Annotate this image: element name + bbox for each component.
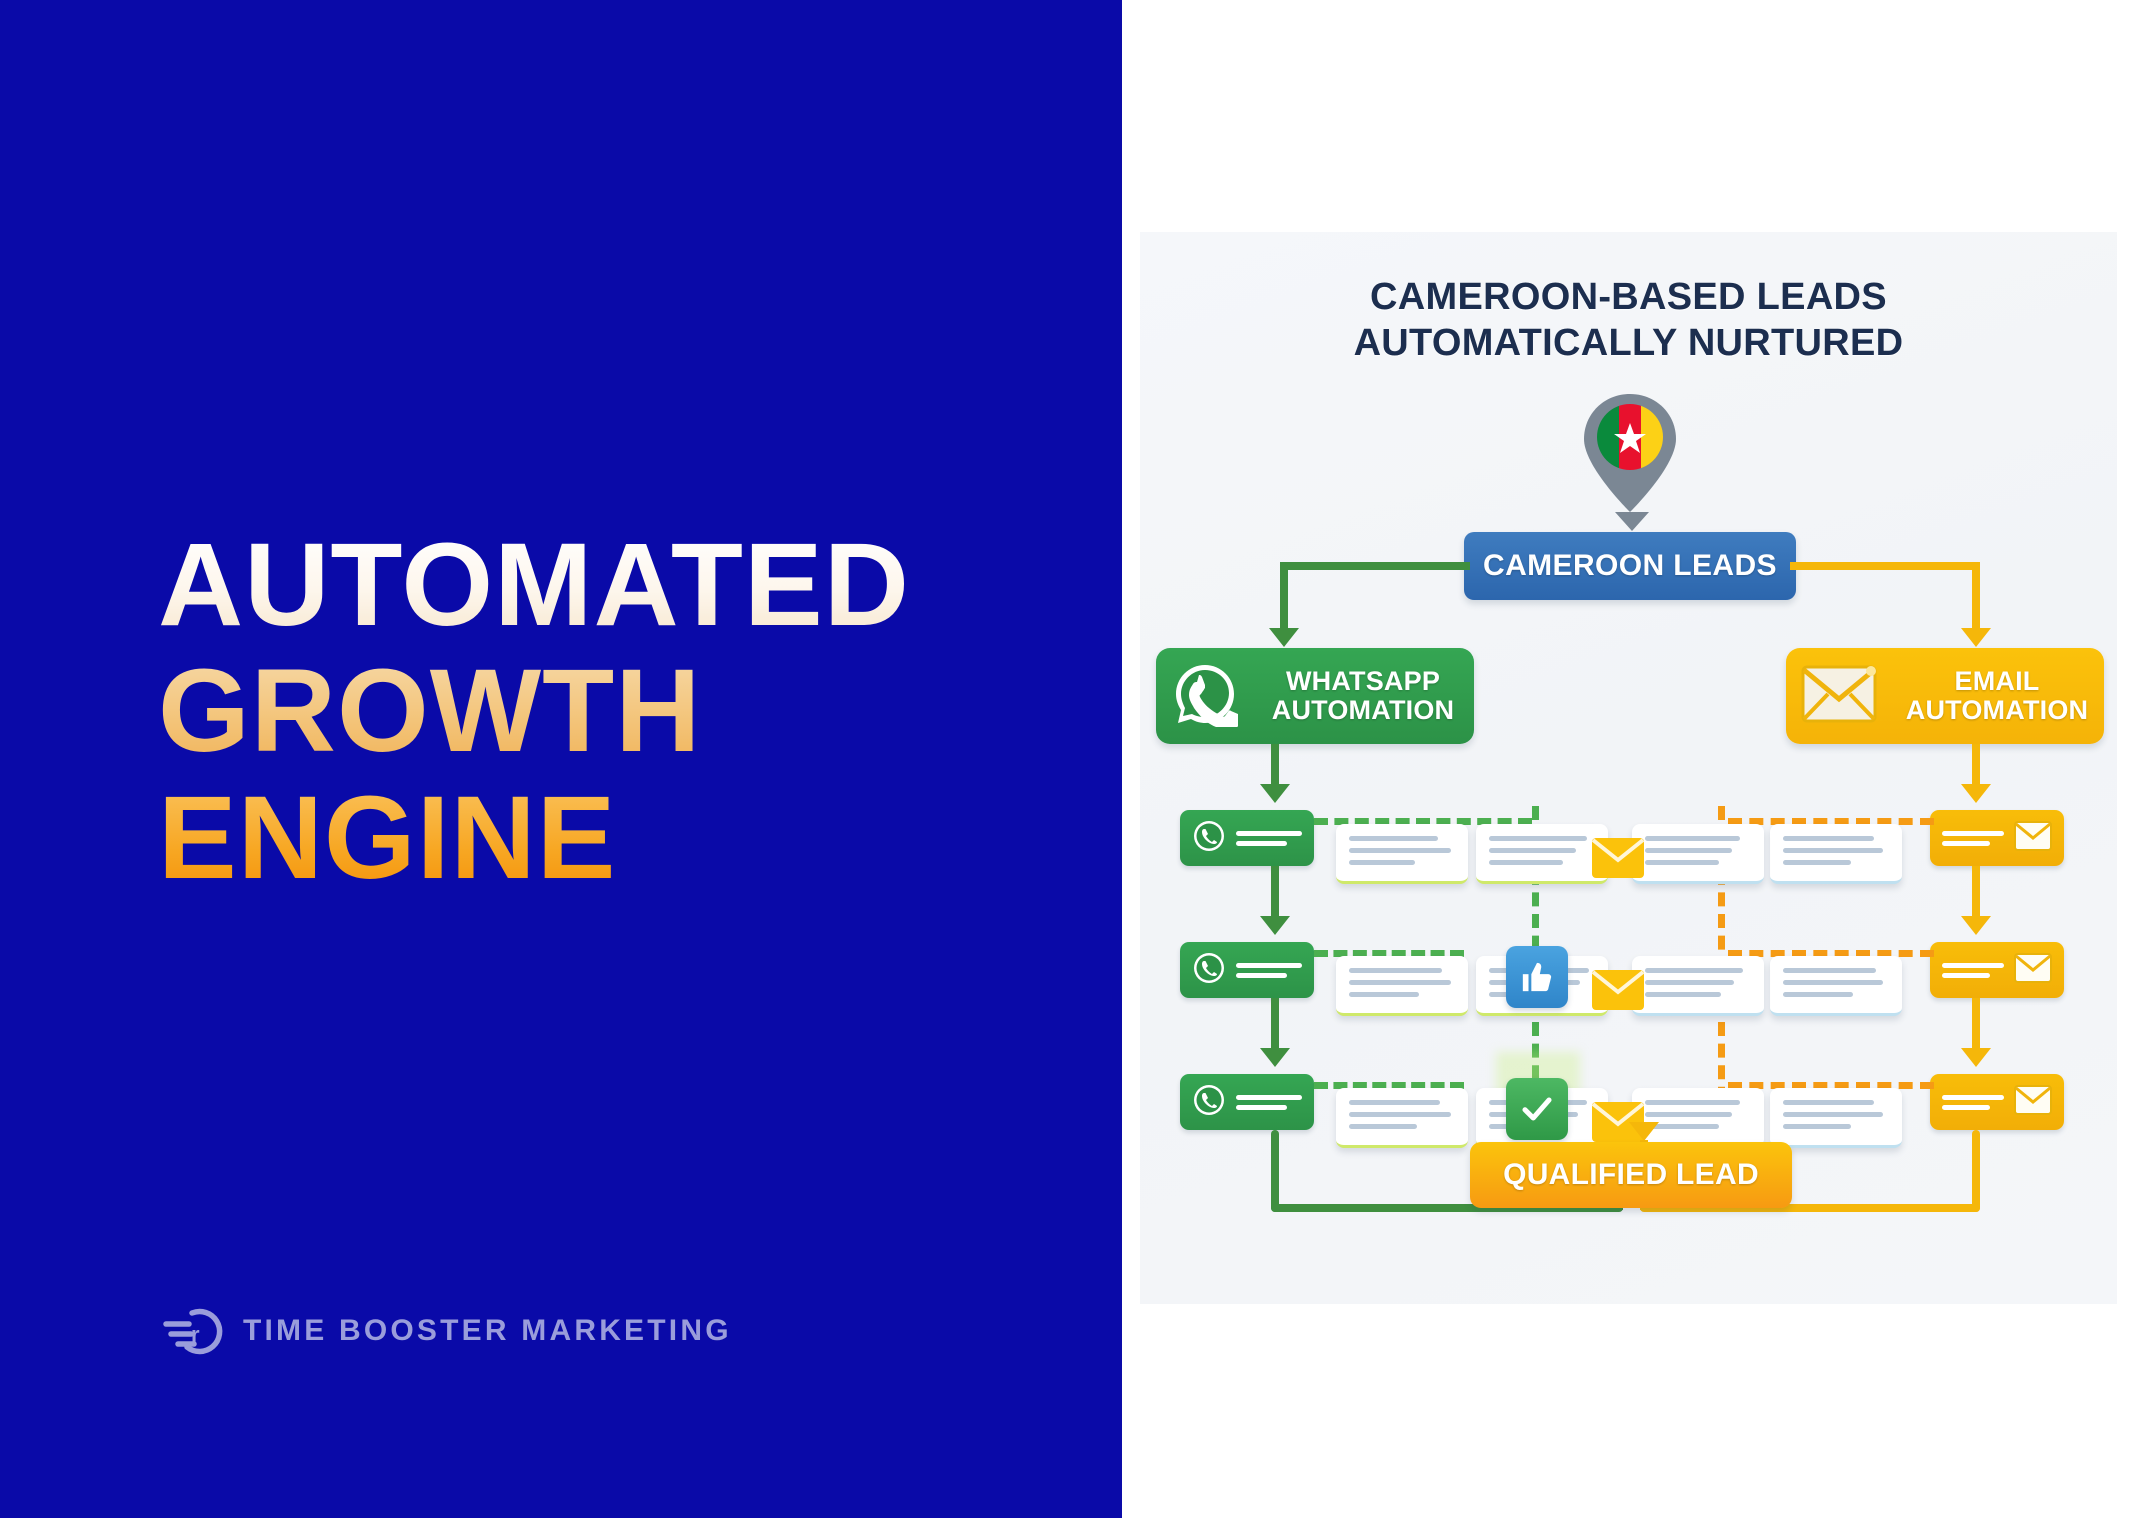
- arrow-to-whatsapp: [1269, 628, 1299, 647]
- email-message-card[interactable]: [1632, 824, 1764, 884]
- step-lines: [1942, 963, 2004, 978]
- arrow-wa-step-3: [1260, 1048, 1290, 1067]
- whatsapp-icon: [1172, 661, 1238, 732]
- email-step-1[interactable]: [1930, 810, 2064, 866]
- check-icon[interactable]: [1506, 1078, 1568, 1140]
- envelope-icon: [1590, 828, 1646, 887]
- connector-em-1-to-2: [1972, 866, 1980, 922]
- speed-clock-icon: r: [163, 1300, 225, 1361]
- page-title: AUTOMATED GROWTH ENGINE: [158, 525, 1038, 904]
- whatsapp-icon: [1192, 819, 1226, 858]
- connector-wa-bottom-v: [1271, 1130, 1279, 1212]
- arrow-to-email: [1961, 628, 1991, 647]
- headline-line-3: ENGINE: [158, 778, 1038, 898]
- arrow-email-to-qualified: [1629, 1122, 1659, 1141]
- connector-email-bottom-v: [1972, 1130, 1980, 1212]
- connector-wa-1-to-2: [1271, 866, 1279, 922]
- node-email-automation[interactable]: EMAIL AUTOMATION: [1786, 648, 2104, 744]
- node-whatsapp-automation[interactable]: WHATSAPP AUTOMATION: [1156, 648, 1474, 744]
- connector-em-2-to-3: [1972, 998, 1980, 1054]
- node-whatsapp-label: WHATSAPP AUTOMATION: [1252, 667, 1474, 725]
- step-lines: [1236, 1095, 1302, 1110]
- envelope-icon: [1590, 960, 1646, 1019]
- arrow-email-step-2: [1961, 916, 1991, 935]
- node-email-label: EMAIL AUTOMATION: [1890, 667, 2104, 725]
- automation-flow-diagram: CAMEROON-BASED LEADS AUTOMATICALLY NURTU…: [1140, 232, 2117, 1304]
- step-lines: [1942, 831, 2004, 846]
- email-message-card[interactable]: [1770, 824, 1902, 884]
- left-brand-panel: AUTOMATED GROWTH ENGINE r TIME BOOSTER M…: [0, 0, 1122, 1518]
- whatsapp-step-3[interactable]: [1180, 1074, 1314, 1130]
- email-message-card[interactable]: [1770, 1088, 1902, 1148]
- whatsapp-icon: [1192, 1083, 1226, 1122]
- headline-line-1: AUTOMATED: [158, 525, 1038, 645]
- step-lines: [1236, 831, 1302, 846]
- whatsapp-step-1[interactable]: [1180, 810, 1314, 866]
- connector-source-to-whatsapp-h: [1280, 562, 1470, 570]
- connector-wa-2-to-3: [1271, 998, 1279, 1054]
- right-illustration-panel: CAMEROON-BASED LEADS AUTOMATICALLY NURTU…: [1122, 0, 2135, 1535]
- arrow-email-step-3: [1961, 1048, 1991, 1067]
- whatsapp-message-card[interactable]: [1336, 824, 1468, 884]
- whatsapp-message-card[interactable]: [1336, 1088, 1468, 1148]
- whatsapp-icon: [1192, 951, 1226, 990]
- step-lines: [1942, 1095, 2004, 1110]
- node-cameroon-leads[interactable]: CAMEROON LEADS: [1464, 532, 1796, 600]
- diagram-title-line-2: AUTOMATICALLY NURTURED: [1140, 320, 2117, 366]
- svg-text:r: r: [191, 1322, 200, 1347]
- whatsapp-message-card[interactable]: [1476, 824, 1608, 884]
- diagram-title: CAMEROON-BASED LEADS AUTOMATICALLY NURTU…: [1140, 274, 2117, 367]
- poster-canvas: AUTOMATED GROWTH ENGINE r TIME BOOSTER M…: [0, 0, 2135, 1535]
- brand-logo: r TIME BOOSTER MARKETING: [163, 1300, 732, 1361]
- node-qualified-lead[interactable]: QUALIFIED LEAD: [1470, 1142, 1792, 1208]
- step-lines: [1236, 963, 1302, 978]
- whatsapp-message-card[interactable]: [1336, 956, 1468, 1016]
- diagram-title-line-1: CAMEROON-BASED LEADS: [1140, 274, 2117, 320]
- email-step-3[interactable]: [1930, 1074, 2064, 1130]
- email-message-card[interactable]: [1632, 956, 1764, 1016]
- connector-source-to-email-h: [1790, 562, 1980, 570]
- connector-source-to-email-v: [1972, 562, 1980, 634]
- email-message-card[interactable]: [1770, 956, 1902, 1016]
- headline-line-2: GROWTH: [158, 651, 1038, 771]
- map-pin-icon: [1582, 392, 1678, 514]
- cameroon-flag: [1597, 404, 1663, 470]
- brand-logo-text: TIME BOOSTER MARKETING: [243, 1314, 732, 1348]
- arrow-wa-step-1: [1260, 784, 1290, 803]
- thumbs-up-icon[interactable]: [1506, 946, 1568, 1008]
- whatsapp-step-2[interactable]: [1180, 942, 1314, 998]
- envelope-icon: [2014, 953, 2052, 988]
- arrow-email-step-1: [1961, 784, 1991, 803]
- pin-connector-arrow: [1615, 512, 1649, 531]
- envelope-icon: [1800, 663, 1878, 730]
- arrow-wa-step-2: [1260, 916, 1290, 935]
- envelope-icon: [2014, 1085, 2052, 1120]
- email-step-2[interactable]: [1930, 942, 2064, 998]
- envelope-icon: [2014, 821, 2052, 856]
- connector-source-to-whatsapp-v: [1280, 562, 1288, 634]
